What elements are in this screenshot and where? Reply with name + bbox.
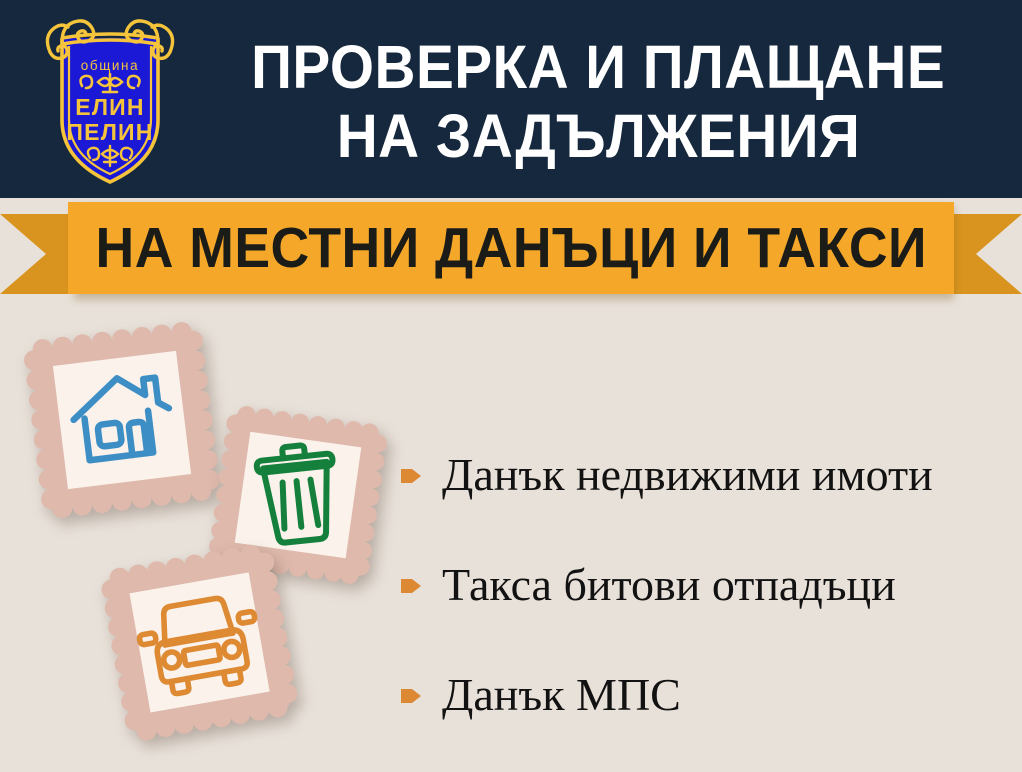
pentagon-arrow-bullet-icon xyxy=(400,574,422,598)
list-item[interactable]: Данък недвижими имоти xyxy=(400,420,1010,530)
coat-of-arms-icon: община ЕЛИН ПЕЛИН xyxy=(40,8,180,190)
page-title-line-1: ПРОВЕРКА И ПЛАЩАНЕ xyxy=(251,33,945,101)
poster-canvas: община ЕЛИН ПЕЛИН ПРОВЕРКА xyxy=(0,0,1022,772)
list-item-label: Данък МПС xyxy=(442,671,681,719)
list-item[interactable]: Данък МПС xyxy=(400,640,1010,750)
list-item[interactable]: Такса битови отпадъци xyxy=(400,530,1010,640)
page-title-line-2: НА ЗАДЪЛЖЕНИЯ xyxy=(336,102,860,170)
tax-type-list: Данък недвижими имоти Такса битови отпад… xyxy=(400,420,1010,750)
list-item-label: Такса битови отпадъци xyxy=(442,561,896,609)
stamp-card-group xyxy=(0,300,420,760)
list-item-label: Данък недвижими имоти xyxy=(442,451,933,499)
stamp-card-car xyxy=(92,535,307,750)
page-title: ПРОВЕРКА И ПЛАЩАНЕ НА ЗАДЪЛЖЕНИЯ xyxy=(188,14,1008,189)
ribbon-text: НА МЕСТНИ ДАНЪЦИ И ТАКСИ xyxy=(95,220,926,277)
pentagon-arrow-bullet-icon xyxy=(400,464,422,488)
ribbon-face: НА МЕСТНИ ДАНЪЦИ И ТАКСИ xyxy=(68,202,954,294)
crest-top-text: община xyxy=(81,58,139,73)
ribbon-banner: НА МЕСТНИ ДАНЪЦИ И ТАКСИ xyxy=(0,198,1022,308)
pentagon-arrow-bullet-icon xyxy=(400,684,422,708)
crest-name-line1: ЕЛИН xyxy=(75,94,144,120)
crest-name-line2: ПЕЛИН xyxy=(66,119,153,145)
